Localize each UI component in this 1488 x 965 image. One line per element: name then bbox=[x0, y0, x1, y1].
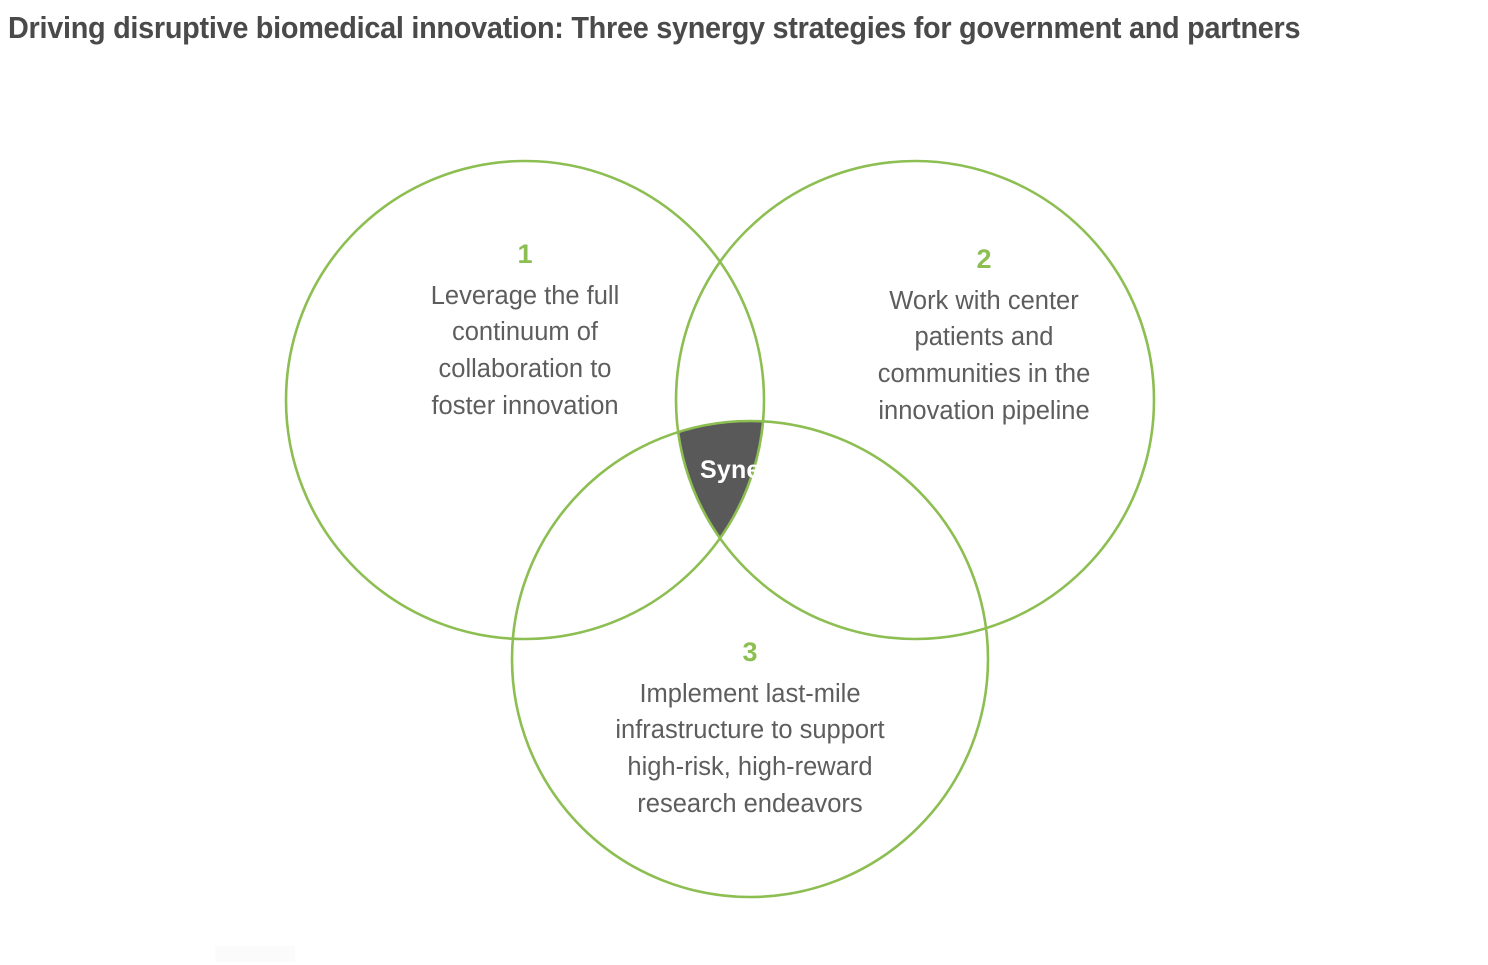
circle-1-label: Leverage the full continuum of collabora… bbox=[345, 278, 705, 425]
bottom-artifact bbox=[215, 946, 295, 962]
circle-2-number: 2 bbox=[808, 245, 1160, 275]
circle-2-content: 2 Work with center patients and communit… bbox=[808, 245, 1160, 430]
synergy-label: Synergy bbox=[640, 456, 860, 485]
circle-3-label: Implement last-mile infrastructure to su… bbox=[540, 676, 960, 823]
circle-2-label: Work with center patients and communitie… bbox=[808, 283, 1160, 430]
circle-1-number: 1 bbox=[345, 240, 705, 270]
circle-3-number: 3 bbox=[540, 638, 960, 668]
circle-1-content: 1 Leverage the full continuum of collabo… bbox=[345, 240, 705, 425]
venn-diagram: 1 Leverage the full continuum of collabo… bbox=[0, 0, 1488, 965]
circle-3-content: 3 Implement last-mile infrastructure to … bbox=[540, 638, 960, 823]
